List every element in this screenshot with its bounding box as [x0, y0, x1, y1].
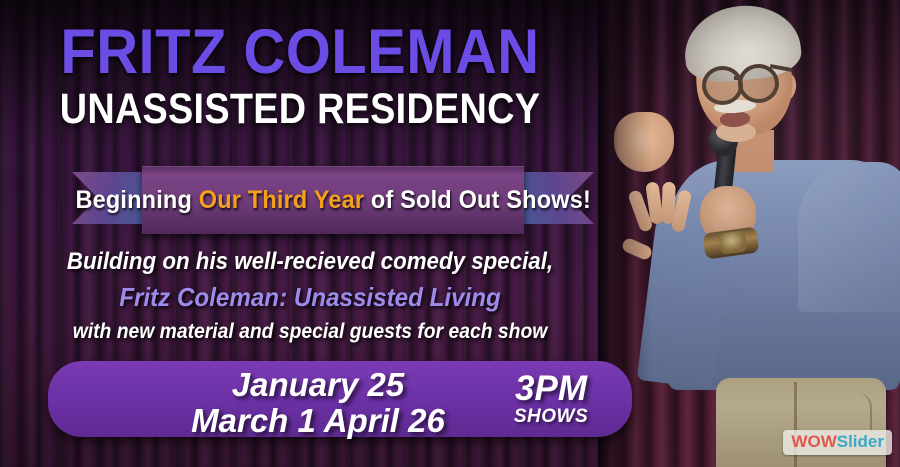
watermark-slider: Slider	[837, 432, 884, 451]
show-dates: January 25 March 1 April 26	[138, 367, 498, 438]
show-time: 3PM SHOWS	[486, 371, 616, 428]
show-date-line-2: March 1 April 26	[138, 403, 498, 439]
promo-banner: FRITZ COLEMAN UNASSISTED RESIDENCY Begin…	[0, 0, 900, 467]
ribbon-center-panel: Beginning Our Third Year of Sold Out Sho…	[142, 166, 524, 234]
headline-block: FRITZ COLEMAN UNASSISTED RESIDENCY	[0, 22, 600, 132]
description-line-1: Building on his well-recieved comedy spe…	[22, 248, 599, 276]
watermark-wow: WOW	[791, 432, 836, 451]
wowslider-watermark: WOWSlider	[783, 430, 892, 455]
show-time-value: 3PM	[486, 371, 616, 407]
photo-left-fade	[598, 0, 900, 467]
special-title: Fritz Coleman: Unassisted Living	[22, 282, 599, 313]
ribbon-text-suffix: of Sold Out Shows!	[364, 186, 591, 214]
ribbon-text-highlight: Our Third Year	[199, 186, 364, 214]
show-time-label: SHOWS	[486, 407, 616, 428]
performer-photo	[598, 0, 900, 467]
page-subtitle: UNASSISTED RESIDENCY	[36, 88, 564, 132]
description-block: Building on his well-recieved comedy spe…	[0, 248, 620, 344]
description-line-3: with new material and special guests for…	[25, 320, 595, 344]
show-dates-pill: January 25 March 1 April 26 3PM SHOWS	[48, 361, 632, 437]
page-title: FRITZ COLEMAN	[24, 22, 576, 84]
show-date-line-1: January 25	[138, 367, 498, 403]
ribbon-text: Beginning Our Third Year of Sold Out Sho…	[75, 186, 591, 215]
ribbon-text-prefix: Beginning	[75, 186, 198, 214]
ribbon-banner: Beginning Our Third Year of Sold Out Sho…	[72, 166, 594, 234]
